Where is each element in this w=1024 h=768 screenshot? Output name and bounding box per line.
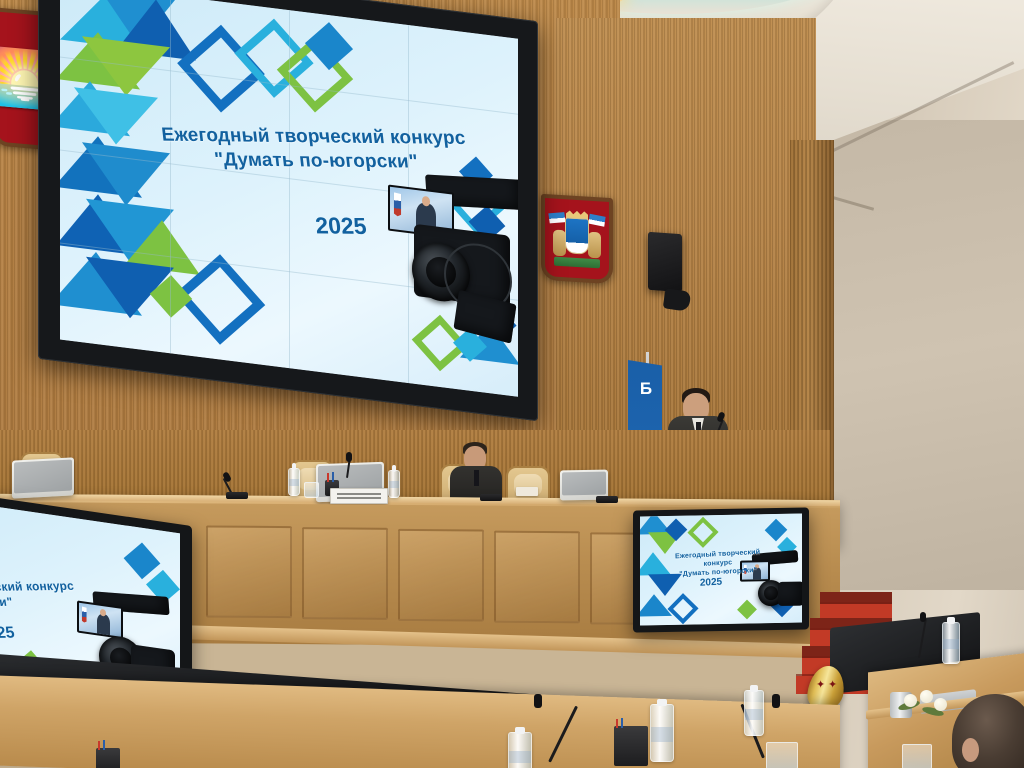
- bear-right-icon: [588, 232, 601, 259]
- presidium-monitor-screen: [562, 472, 606, 496]
- wall-loudspeaker: [648, 232, 682, 292]
- attendee-ear: [962, 738, 979, 762]
- water-bottle: [288, 468, 300, 496]
- pen-holder: [614, 726, 648, 766]
- member-tie: [474, 470, 479, 486]
- nameplate-line: [337, 493, 381, 495]
- presidium-microphone-head: [346, 452, 352, 462]
- slide-year: 2025: [295, 212, 387, 240]
- drinking-glass: [304, 482, 319, 498]
- pennant-left-icon: [548, 212, 565, 223]
- drinking-glass: [902, 744, 932, 768]
- trophy-star-icon: ✦: [828, 680, 837, 691]
- pattern-diamond-outline: [667, 593, 698, 624]
- water-bottle: [650, 704, 674, 762]
- shield-icon: [565, 217, 589, 254]
- video-wall-seam: [289, 10, 290, 368]
- pattern-diamond-solid: [124, 542, 161, 579]
- slide-title-line2: "Думать по-югорски": [0, 594, 102, 612]
- water-bottle: [744, 690, 764, 736]
- water-bottle: [508, 732, 532, 768]
- conference-hall-photo: 🌅: [0, 0, 1024, 768]
- video-wall-screen: Ежегодный творческий конкурс "Думать по-…: [60, 0, 518, 397]
- main-video-wall[interactable]: Ежегодный творческий конкурс "Думать по-…: [38, 0, 538, 421]
- wood-panel: [302, 527, 388, 620]
- drinking-glass: [766, 742, 798, 768]
- pattern-triangle: [640, 594, 672, 617]
- water-bottle: [942, 622, 960, 664]
- flower: [934, 698, 947, 711]
- pattern-diamond-solid: [765, 519, 788, 542]
- water-bottle: [388, 470, 400, 498]
- slide-main: Ежегодный творческий конкурс "Думать по-…: [60, 0, 518, 397]
- slide-title: Ежегодный творческий конкурс "Думать по-…: [158, 123, 472, 175]
- pennant-right-icon: [588, 214, 605, 227]
- presidium-mic-base: [480, 494, 502, 501]
- slide-right: Ежегодный творческий конкурс "Думать по-…: [640, 514, 802, 626]
- foreground-microphone-head: [772, 694, 780, 708]
- desk-nameplate: [330, 488, 388, 504]
- viewfinder-person: [97, 613, 110, 635]
- flag-emblem-icon: Б: [637, 378, 655, 400]
- slide-year: 2025: [0, 624, 28, 643]
- crest-base: [554, 257, 600, 269]
- slide-title-line2: "Думать по-югорски": [161, 148, 472, 176]
- wood-panel: [494, 531, 580, 624]
- slide-title-line1: Ежегодный творческий конкурс: [158, 123, 469, 151]
- presidium-mic-base: [596, 496, 618, 503]
- presidium-monitor-screen: [14, 459, 72, 493]
- desk-papers: [516, 487, 538, 496]
- foreground-microphone-head: [534, 694, 542, 708]
- presidium-monitor[interactable]: [12, 457, 74, 498]
- pattern-diamond-outline: [687, 517, 718, 548]
- flower: [920, 690, 933, 703]
- trophy-star-icon: ✦: [816, 680, 825, 691]
- right-monitor-screen: Ежегодный творческий конкурс "Думать по-…: [640, 514, 802, 626]
- pen-holder: [96, 748, 120, 768]
- video-wall-seam: [170, 0, 171, 353]
- nameplate-line: [337, 497, 381, 499]
- flower-bouquet: [898, 690, 958, 720]
- wood-panel: [398, 529, 484, 622]
- camera-handle: [778, 582, 802, 606]
- presidium-mic-base: [226, 492, 248, 499]
- flower: [904, 694, 917, 707]
- yugra-coat-of-arms: [541, 194, 613, 284]
- slide-year: 2025: [684, 576, 738, 590]
- camera-graphic: [360, 155, 518, 356]
- wood-panel: [206, 525, 292, 618]
- right-monitor[interactable]: Ежегодный творческий конкурс "Думать по-…: [633, 507, 809, 632]
- viewfinder-flag-icon: [394, 192, 401, 216]
- foreground-microphone-head: [920, 612, 926, 622]
- slide-title: Ежегодный творческий конкурс "Думать по-…: [0, 578, 102, 612]
